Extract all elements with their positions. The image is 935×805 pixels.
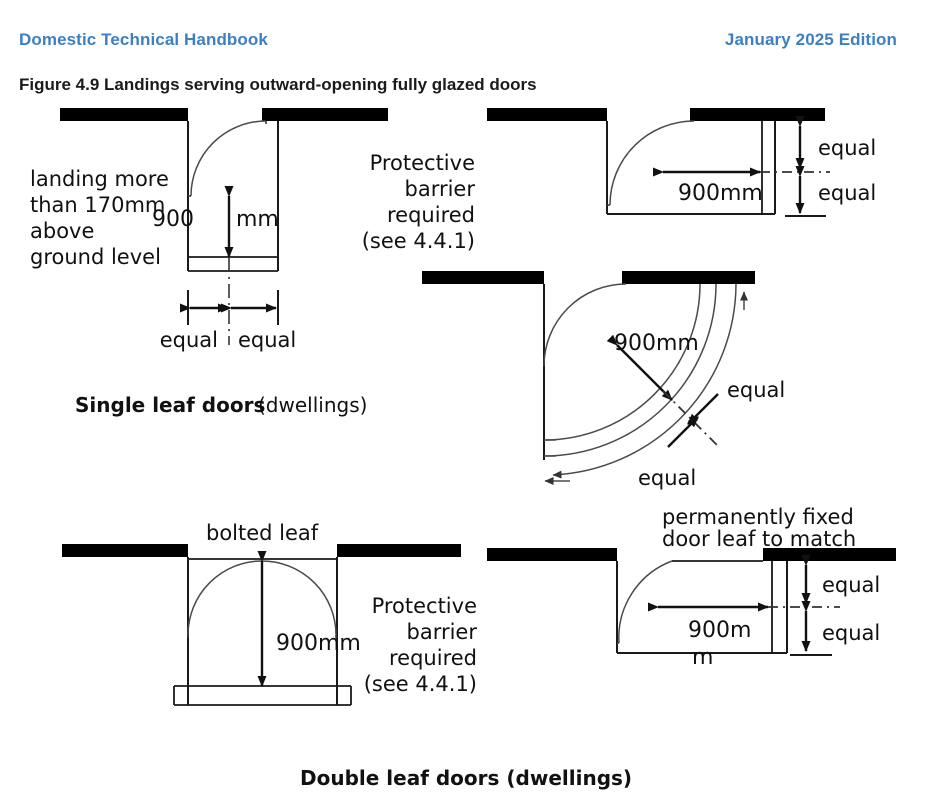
equal-label-top-tr: equal bbox=[818, 136, 876, 160]
wall-right-top-right bbox=[690, 108, 825, 121]
door-swing-arc-right-bl bbox=[262, 561, 336, 635]
wall-left-middle bbox=[422, 271, 544, 284]
dim-900-label-line2-br: m bbox=[692, 645, 713, 670]
fixed-leaf-label-line2: door leaf to match bbox=[662, 527, 856, 551]
equal-label-bottom-tr: equal bbox=[818, 181, 876, 205]
wall-left-top-right bbox=[487, 108, 607, 121]
diagram-top-right: 900mm equal equal Protective barrier req… bbox=[362, 108, 877, 253]
wall-left-bottom-left bbox=[62, 544, 188, 557]
concentric-arc-1 bbox=[544, 284, 700, 440]
equal-label-right-mid: equal bbox=[727, 378, 785, 402]
wall-right-middle bbox=[622, 271, 755, 284]
wall-left-bottom-right bbox=[487, 548, 617, 561]
equal-label-left: equal bbox=[160, 328, 218, 352]
door-swing-arc-left-bl bbox=[188, 561, 262, 635]
equal-label-bottom-mid: equal bbox=[638, 466, 696, 490]
equal-label-right: equal bbox=[238, 328, 296, 352]
note-line-3-tr: required bbox=[387, 203, 475, 227]
diagram-middle: 900mm equal equal bbox=[422, 271, 785, 490]
diagram-bottom-right: 900m m equal equal permanently fixed doo… bbox=[364, 505, 896, 696]
concentric-arc-3-sweep bbox=[553, 284, 736, 475]
caption-single-leaf-bold: Single leaf doors bbox=[75, 393, 265, 417]
note-line-2-tr: barrier bbox=[405, 177, 476, 201]
bolted-leaf-label: bolted leaf bbox=[206, 521, 319, 545]
concentric-arc-2 bbox=[544, 284, 716, 456]
note-line-3-br: required bbox=[389, 646, 477, 670]
technical-drawing: 900 mm equal equal landing more than 170… bbox=[0, 0, 935, 805]
wall-right-bottom-left bbox=[337, 544, 461, 557]
note-line-1-br: Protective bbox=[372, 594, 477, 618]
note-line-3: above bbox=[30, 219, 94, 243]
wall-right-top-left bbox=[262, 108, 388, 121]
note-line-2: than 170mm bbox=[30, 193, 165, 217]
caption-single-leaf-regular: (dwellings) bbox=[258, 393, 367, 417]
equal-label-bottom-br: equal bbox=[822, 621, 880, 645]
note-line-1: landing more bbox=[30, 167, 169, 191]
caption-double-leaf: Double leaf doors (dwellings) bbox=[300, 766, 632, 790]
door-swing-arc-br bbox=[619, 561, 672, 643]
dim-equal-bottom-arrow-mid bbox=[668, 417, 698, 447]
note-line-4: ground level bbox=[30, 245, 161, 269]
dim-equal-right-arrow-mid bbox=[688, 394, 718, 424]
note-line-4-br: (see 4.4.1) bbox=[364, 672, 477, 696]
diagram-top-left: 900 mm equal equal landing more than 170… bbox=[30, 108, 388, 352]
fixed-leaf-label-line1: permanently fixed bbox=[662, 505, 854, 529]
equal-label-top-br: equal bbox=[822, 573, 880, 597]
dim-900-label-mid: 900mm bbox=[614, 331, 699, 356]
note-line-1-tr: Protective bbox=[370, 151, 475, 175]
dim-900-label-unit: mm bbox=[236, 207, 279, 232]
wall-left-top-left bbox=[60, 108, 188, 121]
dim-900-label-line1-br: 900m bbox=[688, 618, 751, 643]
door-swing-arc bbox=[191, 121, 266, 196]
dim-900-label-bl: 900mm bbox=[276, 631, 361, 656]
dim-900-label-tr: 900mm bbox=[678, 181, 763, 206]
note-line-4-tr: (see 4.4.1) bbox=[362, 229, 475, 253]
note-line-2-br: barrier bbox=[407, 620, 478, 644]
figure-canvas: 900 mm equal equal landing more than 170… bbox=[0, 0, 935, 805]
